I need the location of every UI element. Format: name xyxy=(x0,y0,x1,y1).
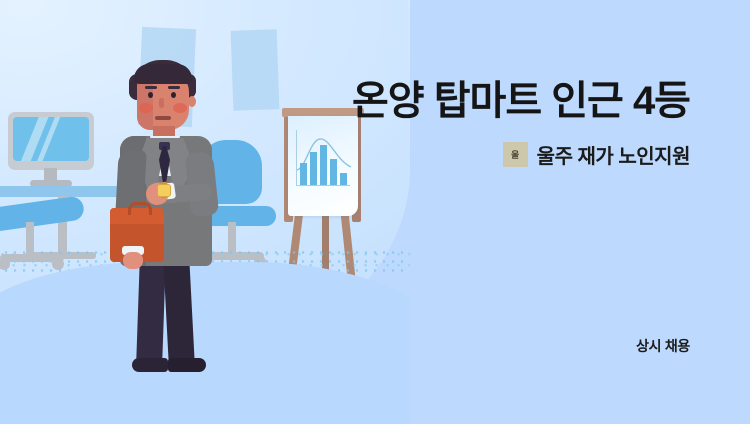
organization-row: 울 울주 재가 노인지원 xyxy=(503,140,690,169)
banner-title: 온양 탑마트 인근 4등 xyxy=(352,68,690,126)
organization-name: 울주 재가 노인지원 xyxy=(537,140,690,169)
banner-content: 온양 탑마트 인근 4등 울 울주 재가 노인지원 상시 채용 xyxy=(0,0,750,424)
organization-logo-badge: 울 xyxy=(503,142,528,167)
recruitment-status-text: 상시 채용 xyxy=(636,336,690,356)
recruitment-banner: 온양 탑마트 인근 4등 울 울주 재가 노인지원 상시 채용 xyxy=(0,0,750,424)
